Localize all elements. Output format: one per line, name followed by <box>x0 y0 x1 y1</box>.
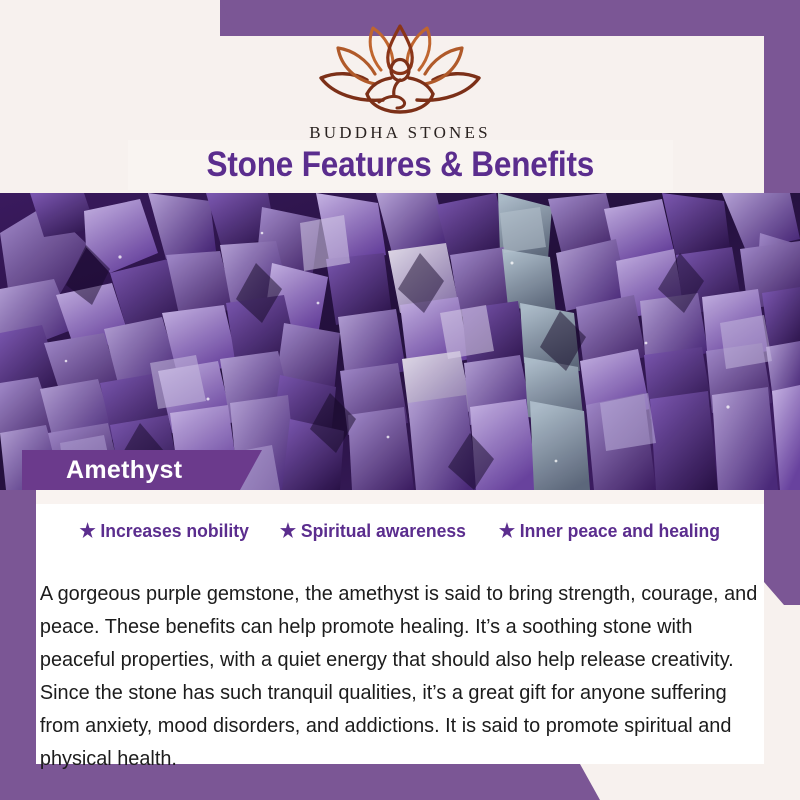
stone-info-card: BUDDHA STONES Stone Features & Benefits <box>0 0 800 800</box>
stone-description: A gorgeous purple gemstone, the amethyst… <box>36 577 764 775</box>
feature-label: Increases nobility <box>100 520 248 542</box>
frame-left-lower-band <box>0 487 36 800</box>
feature-label: Inner peace and healing <box>519 520 719 542</box>
star-icon: ★ <box>280 522 296 541</box>
feature-label: Spiritual awareness <box>301 520 466 542</box>
amethyst-crystal-cluster-photo <box>0 193 800 490</box>
feature-list: ★ Increases nobility ★ Spiritual awarene… <box>36 520 764 542</box>
star-icon: ★ <box>79 522 95 541</box>
frame-right-lower-accent <box>764 490 800 605</box>
star-icon: ★ <box>498 522 514 541</box>
stone-name: Amethyst <box>66 456 182 485</box>
stone-name-banner: Amethyst <box>22 450 262 490</box>
brand-logo: BUDDHA STONES <box>305 22 495 143</box>
page-title: Stone Features & Benefits <box>207 145 595 185</box>
feature-item-inner-peace: ★ Inner peace and healing <box>498 520 719 542</box>
feature-item-spiritual-awareness: ★ Spiritual awareness <box>280 520 466 542</box>
lotus-meditation-figure-icon <box>305 22 495 119</box>
feature-item-nobility: ★ Increases nobility <box>79 520 248 542</box>
page-title-band: Stone Features & Benefits <box>128 140 673 190</box>
panel-top-tint <box>36 490 764 504</box>
